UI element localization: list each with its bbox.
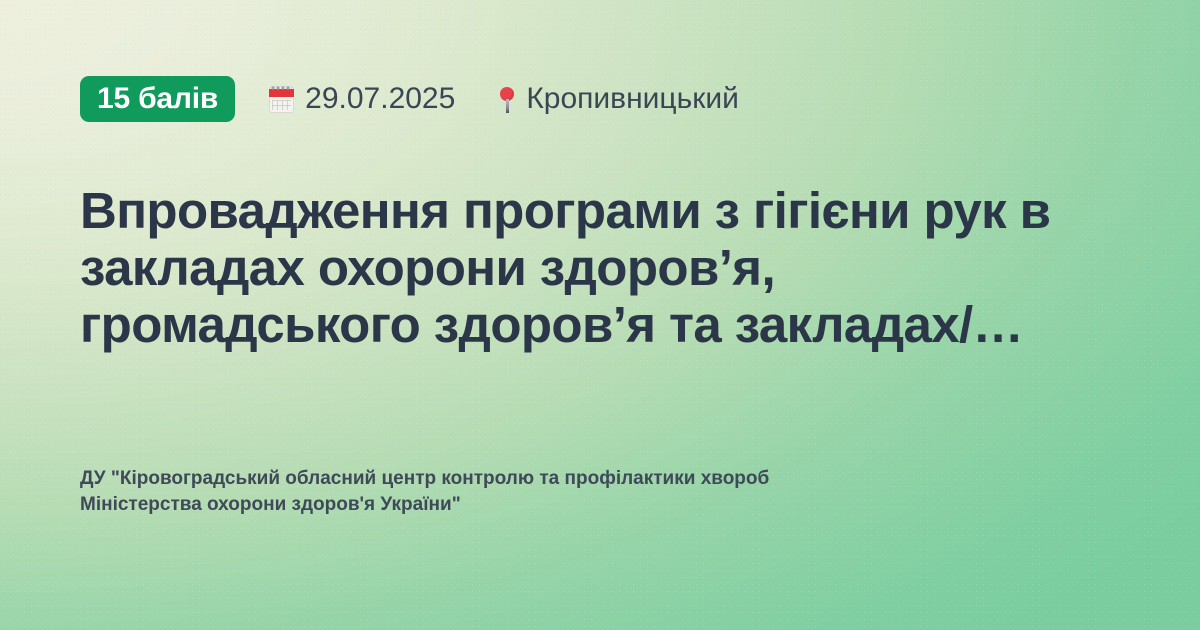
- event-card: 15 балів 29.07.2025 Кропивницький Впрова…: [0, 0, 1200, 630]
- organizer-line-2: Міністерства охорони здоров'я України": [80, 492, 980, 518]
- map-pin-icon: [499, 86, 515, 113]
- organizer-line-1: ДУ "Кіровоградський обласний центр контр…: [80, 466, 980, 492]
- event-location: Кропивницький: [499, 82, 739, 116]
- event-date: 29.07.2025: [269, 82, 455, 116]
- event-title: Впровадження програми з гігієни рук в за…: [80, 124, 1120, 353]
- meta-row: 15 балів 29.07.2025 Кропивницький: [80, 74, 1120, 124]
- score-badge: 15 балів: [80, 76, 235, 122]
- calendar-icon: [269, 86, 294, 113]
- event-location-value: Кропивницький: [526, 82, 739, 116]
- event-organizer: ДУ "Кіровоградський обласний центр контр…: [80, 466, 980, 574]
- event-date-value: 29.07.2025: [305, 82, 455, 116]
